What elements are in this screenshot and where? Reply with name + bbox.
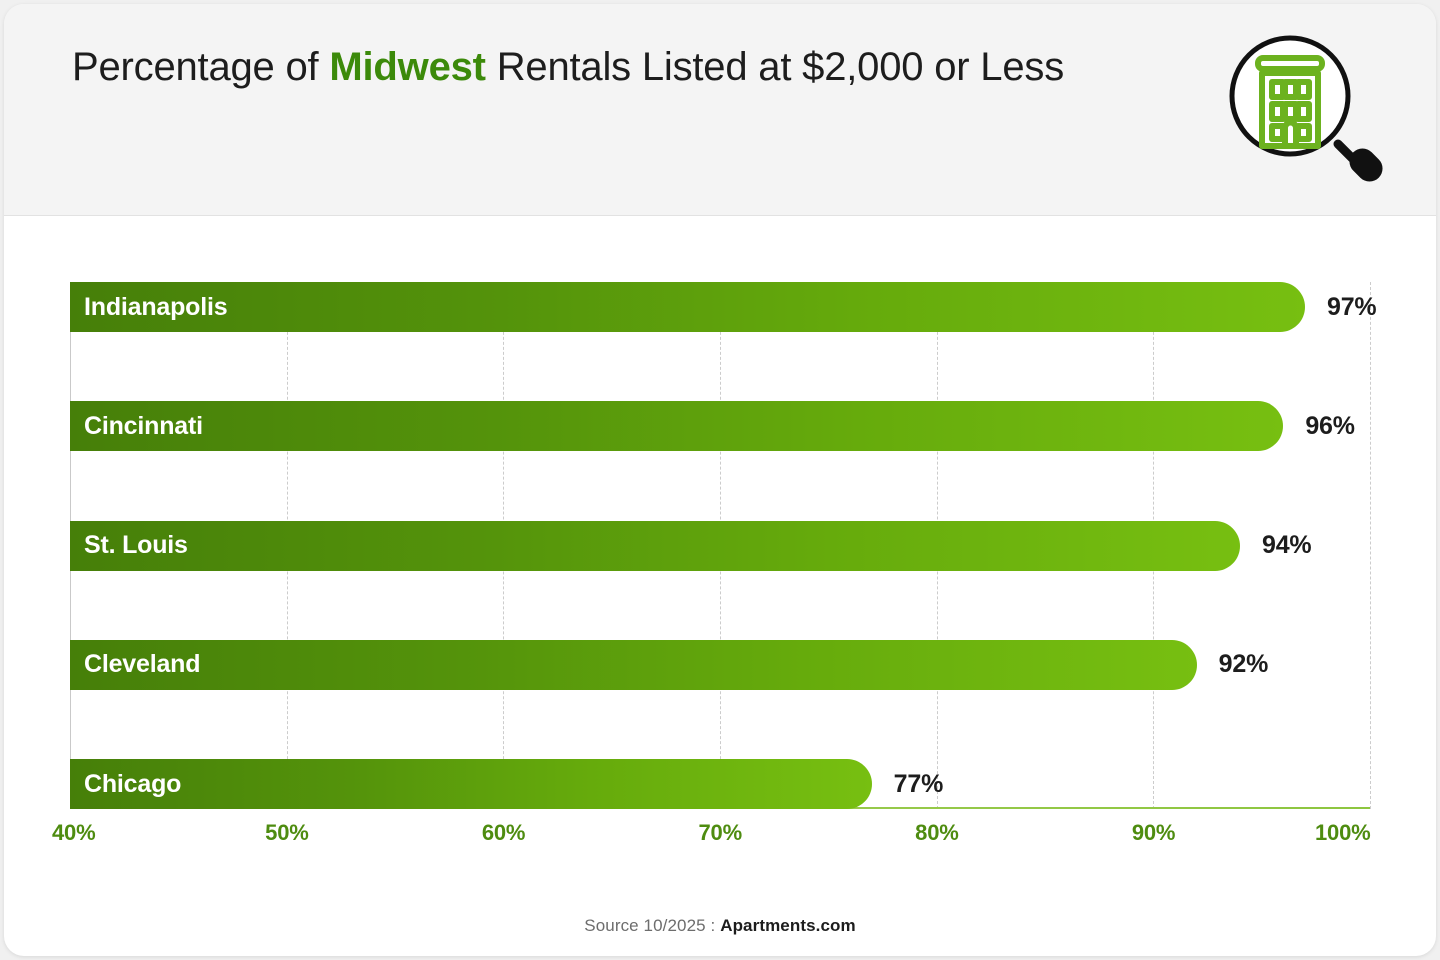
bars-container: Indianapolis97%Cincinnati96%St. Louis94%… (70, 282, 1370, 809)
bar-cincinnati[interactable]: Cincinnati (70, 401, 1283, 451)
page-title: Percentage of Midwest Rentals Listed at … (72, 40, 1072, 94)
x-tick-label: 40% (52, 820, 95, 846)
x-tick-label: 50% (265, 820, 308, 846)
bar-row: Chicago77% (70, 759, 1370, 809)
bar-indianapolis[interactable]: Indianapolis (70, 282, 1305, 332)
bar-value-label: 96% (1305, 401, 1354, 451)
title-text-part1: Percentage of (72, 45, 329, 89)
x-tick-label: 100% (1315, 820, 1370, 846)
bar-value-label: 97% (1327, 282, 1376, 332)
chart-card: Percentage of Midwest Rentals Listed at … (4, 4, 1436, 956)
title-highlight-midwest: Midwest (329, 45, 485, 89)
bar-category-label: Chicago (70, 770, 181, 799)
magnifying-glass-apartment-building-icon (1220, 26, 1390, 196)
bar-category-label: Indianapolis (70, 293, 227, 322)
chart-header: Percentage of Midwest Rentals Listed at … (4, 4, 1436, 216)
bar-row: Cincinnati96% (70, 401, 1370, 451)
plot-area: Indianapolis97%Cincinnati96%St. Louis94%… (70, 282, 1370, 809)
x-tick-label: 70% (699, 820, 742, 846)
bar-row: Cleveland92% (70, 640, 1370, 690)
bar-chicago[interactable]: Chicago (70, 759, 872, 809)
bar-row: Indianapolis97% (70, 282, 1370, 332)
x-tick-label: 80% (915, 820, 958, 846)
x-tick-label: 90% (1132, 820, 1175, 846)
bar-st-louis[interactable]: St. Louis (70, 521, 1240, 571)
x-tick-label: 60% (482, 820, 525, 846)
source-prefix: Source 10/2025 : (584, 916, 720, 935)
title-text-part2: Rentals Listed at $2,000 or Less (486, 45, 1064, 89)
bar-category-label: Cleveland (70, 650, 200, 679)
bar-value-label: 92% (1219, 640, 1268, 690)
gridline-100 (1370, 282, 1372, 809)
bar-category-label: Cincinnati (70, 412, 203, 441)
bar-value-label: 94% (1262, 521, 1311, 571)
source-name: Apartments.com (720, 916, 856, 935)
bar-value-label: 77% (894, 759, 943, 809)
bar-row: St. Louis94% (70, 521, 1370, 571)
x-axis-ticks: 40%50%60%70%80%90%100% (70, 820, 1370, 854)
source-footer: Source 10/2025 : Apartments.com (4, 916, 1436, 936)
bar-cleveland[interactable]: Cleveland (70, 640, 1197, 690)
chart-body: Indianapolis97%Cincinnati96%St. Louis94%… (4, 216, 1436, 956)
bar-category-label: St. Louis (70, 531, 188, 560)
